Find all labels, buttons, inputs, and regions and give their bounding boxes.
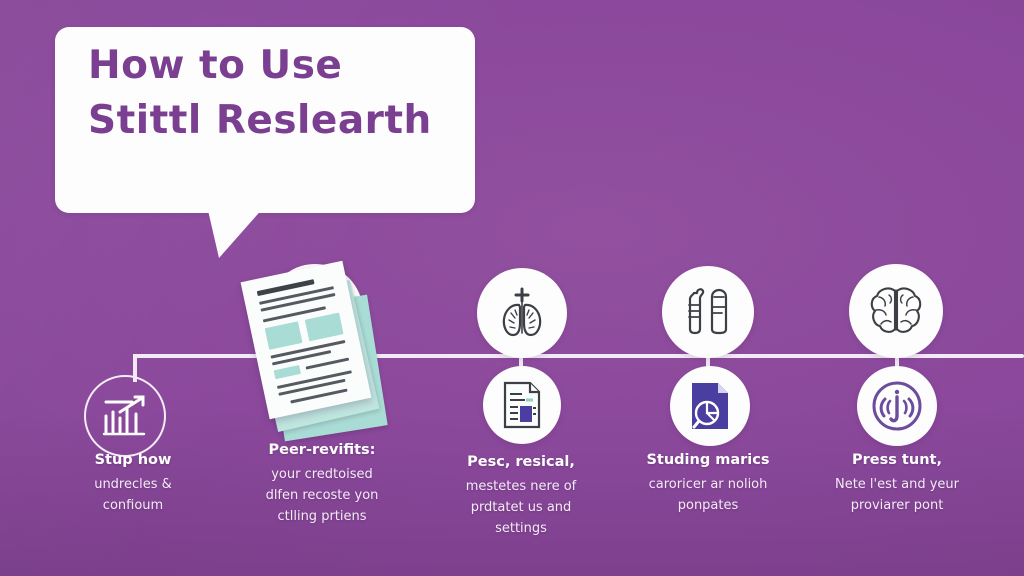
step-2-heading: Peer-revifits: <box>222 440 422 462</box>
timeline-step-3[interactable]: Pesc, resical, mestetes nere of prdtatet… <box>421 250 621 550</box>
timeline-step-2[interactable]: Peer-revifits: your credtoised dlfen rec… <box>222 250 422 550</box>
step-3-lower-circle[interactable] <box>483 366 561 444</box>
step-3-upper-circle[interactable] <box>477 268 567 358</box>
lungs-with-plus-icon <box>495 285 549 341</box>
umbrella-signal-icon <box>870 379 924 433</box>
step-2-body-line-1: your credtoised <box>222 464 422 485</box>
timeline-step-4[interactable]: Studing marics caroricer ar nolioh ponpa… <box>608 250 808 550</box>
step-2-body-line-2: dlfen recoste yon <box>222 485 422 506</box>
step-3-body-line-2: prdtatet us and <box>421 497 621 518</box>
step-4-body-line-1: caroricer ar nolioh <box>608 474 808 495</box>
step-5-heading: Press tunt, <box>797 450 997 472</box>
step-3-body-line-3: settings <box>421 518 621 539</box>
infographic-poster: How to Use Stittl Reslearth <box>0 0 1024 576</box>
timeline-step-1[interactable]: Stup how undrecles & confioum <box>33 250 233 550</box>
step-4-upper-circle[interactable] <box>662 266 754 358</box>
page-title-line-2: Stittl Reslearth <box>88 93 478 148</box>
document-lines-icon <box>500 380 544 430</box>
step-5-body-line-1: Nete l'est and yeur <box>797 474 997 495</box>
step-1-heading: Stup how <box>33 450 233 472</box>
document-front-sheet <box>241 261 372 420</box>
document-stack-illustration <box>240 262 410 437</box>
brain-icon <box>867 284 925 338</box>
bar-chart-growth-arrow-icon <box>102 394 148 438</box>
step-1-body-line-2: confioum <box>33 495 233 516</box>
step-5-lower-circle[interactable] <box>857 366 937 446</box>
step-2-body-line-3: ctlling prtiens <box>222 506 422 527</box>
step-2-caption: Peer-revifits: your credtoised dlfen rec… <box>222 440 422 527</box>
document-pie-chart-search-icon <box>687 380 733 432</box>
step-1-caption: Stup how undrecles & confioum <box>33 450 233 516</box>
step-3-heading: Pesc, resical, <box>421 452 621 474</box>
step-4-heading: Studing marics <box>608 450 808 472</box>
medicine-bottles-icon <box>680 285 736 339</box>
step-3-body-line-1: mestetes nere of <box>421 476 621 497</box>
step-3-caption: Pesc, resical, mestetes nere of prdtatet… <box>421 452 621 539</box>
timeline-step-5[interactable]: Press tunt, Nete l'est and yeur proviare… <box>797 250 997 550</box>
page-title: How to Use Stittl Reslearth <box>88 38 478 149</box>
step-4-lower-circle[interactable] <box>670 366 750 446</box>
step-5-upper-circle[interactable] <box>849 264 943 358</box>
step-1-circle[interactable] <box>84 375 166 457</box>
step-4-caption: Studing marics caroricer ar nolioh ponpa… <box>608 450 808 516</box>
step-5-body-line-2: proviarer pont <box>797 495 997 516</box>
step-5-caption: Press tunt, Nete l'est and yeur proviare… <box>797 450 997 516</box>
step-1-body-line-1: undrecles & <box>33 474 233 495</box>
step-4-body-line-2: ponpates <box>608 495 808 516</box>
page-title-line-1: How to Use <box>88 38 478 93</box>
